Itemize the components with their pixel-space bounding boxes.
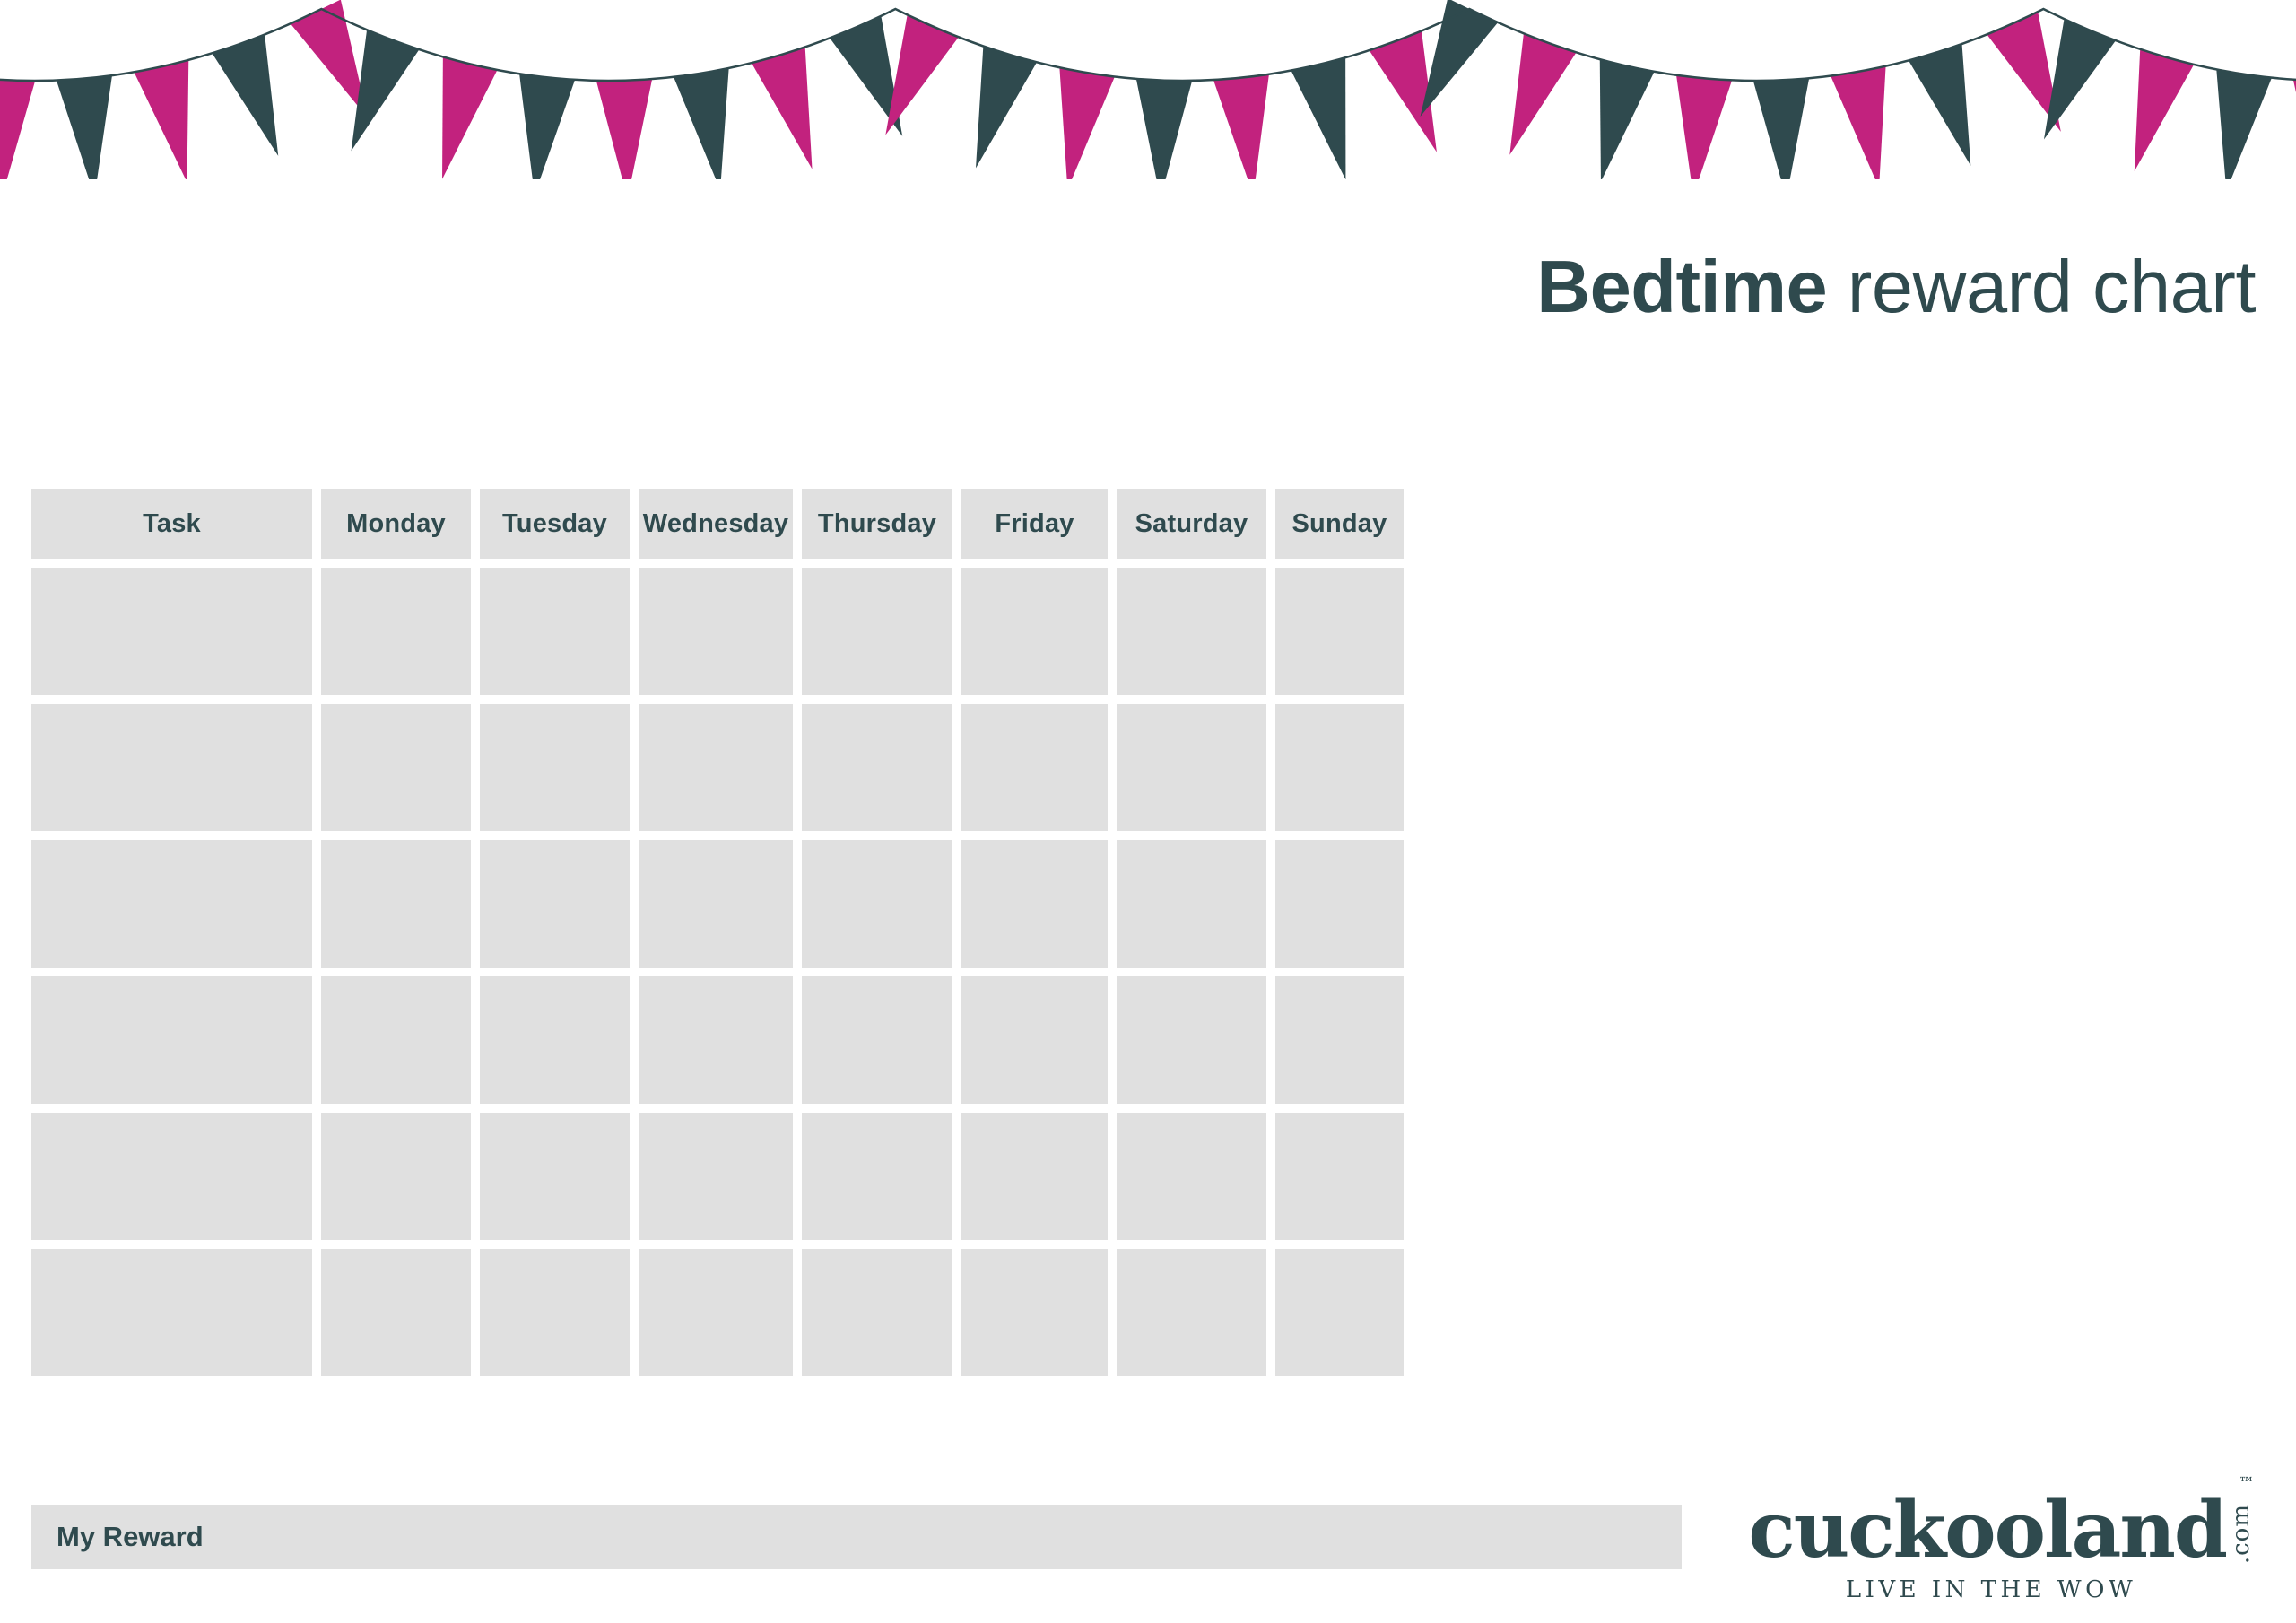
day-cell[interactable] [1117,704,1266,831]
day-cell[interactable] [802,976,952,1104]
column-header-thursday: Thursday [802,489,952,559]
task-cell[interactable] [31,704,312,831]
day-cell[interactable] [961,568,1108,695]
task-cell[interactable] [31,568,312,695]
day-cell[interactable] [1275,1249,1404,1376]
bunting-flag [1136,80,1192,179]
bunting-flag [1509,34,1576,155]
page-title-light: reward chart [1827,245,2256,328]
bunting-flag [1600,60,1654,179]
bunting-flag [213,35,278,156]
day-cell[interactable] [639,1249,793,1376]
day-cell[interactable] [1275,976,1404,1104]
day-cell[interactable] [802,840,952,968]
bunting-flag [442,57,497,179]
column-header-tuesday: Tuesday [480,489,630,559]
logo-wordmark-row: cuckooland .com ™ [1751,1478,2253,1567]
bunting-flag [1291,58,1346,179]
day-cell[interactable] [802,1113,952,1240]
task-cell[interactable] [31,840,312,968]
column-header-task: Task [31,489,312,559]
day-cell[interactable] [480,1249,630,1376]
bunting-flags [0,0,2296,179]
task-cell[interactable] [31,976,312,1104]
bunting-flag [1831,67,1885,179]
day-cell[interactable] [961,1249,1108,1376]
day-cell[interactable] [1117,568,1266,695]
bunting-flag [1213,74,1269,179]
day-cell[interactable] [1117,976,1266,1104]
bunting-flag [519,74,575,179]
bunting-flag [1059,68,1114,179]
day-cell[interactable] [802,704,952,831]
column-header-wednesday: Wednesday [639,489,793,559]
day-cell[interactable] [639,1113,793,1240]
bunting-banner [0,0,2296,179]
bunting-flag [1676,76,1732,179]
bunting-flag [976,47,1037,168]
bunting-flag [2135,50,2194,171]
page-title: Bedtime reward chart [1536,249,2256,324]
day-cell[interactable] [480,704,630,831]
column-header-sunday: Sunday [1275,489,1404,559]
column-header-monday: Monday [321,489,471,559]
day-cell[interactable] [961,1113,1108,1240]
logo-tagline: LIVE IN THE WOW [1751,1576,2253,1603]
bunting-flag [0,79,35,179]
day-cell[interactable] [321,840,471,968]
day-cell[interactable] [1117,840,1266,968]
day-cell[interactable] [480,976,630,1104]
my-reward-bar[interactable]: My Reward [31,1505,1682,1569]
bunting-flag [674,69,728,179]
bunting-flag [57,76,112,179]
bunting-flag [752,48,812,169]
day-cell[interactable] [321,568,471,695]
bunting-flag [1753,79,1809,179]
reward-chart-grid: TaskMondayTuesdayWednesdayThursdayFriday… [31,489,2256,1376]
bunting-flag [2216,70,2271,179]
column-header-saturday: Saturday [1117,489,1266,559]
day-cell[interactable] [480,568,630,695]
day-cell[interactable] [1275,704,1404,831]
column-header-friday: Friday [961,489,1108,559]
day-cell[interactable] [802,1249,952,1376]
day-cell[interactable] [961,704,1108,831]
day-cell[interactable] [321,976,471,1104]
day-cell[interactable] [321,1249,471,1376]
bunting-flag [135,61,189,179]
day-cell[interactable] [321,704,471,831]
day-cell[interactable] [961,840,1108,968]
day-cell[interactable] [1117,1113,1266,1240]
day-cell[interactable] [480,1113,630,1240]
my-reward-label: My Reward [31,1521,204,1553]
day-cell[interactable] [1275,568,1404,695]
day-cell[interactable] [639,840,793,968]
day-cell[interactable] [639,704,793,831]
logo-domain: .com [2230,1504,2253,1564]
task-cell[interactable] [31,1249,312,1376]
logo-wordmark: cuckooland [1748,1494,2226,1567]
day-cell[interactable] [802,568,952,695]
task-cell[interactable] [31,1113,312,1240]
day-cell[interactable] [639,568,793,695]
bunting-svg [0,0,2296,179]
day-cell[interactable] [321,1113,471,1240]
bunting-flag [596,80,652,179]
day-cell[interactable] [1117,1249,1266,1376]
day-cell[interactable] [480,840,630,968]
trademark-icon: ™ [2239,1474,2255,1493]
day-cell[interactable] [1275,840,1404,968]
day-cell[interactable] [1275,1113,1404,1240]
page-title-strong: Bedtime [1536,245,1827,328]
bunting-flag [352,30,419,151]
day-cell[interactable] [639,976,793,1104]
day-cell[interactable] [961,976,1108,1104]
bunting-flag [1909,45,1970,166]
cuckooland-logo: cuckooland .com ™ LIVE IN THE WOW [1751,1478,2253,1612]
